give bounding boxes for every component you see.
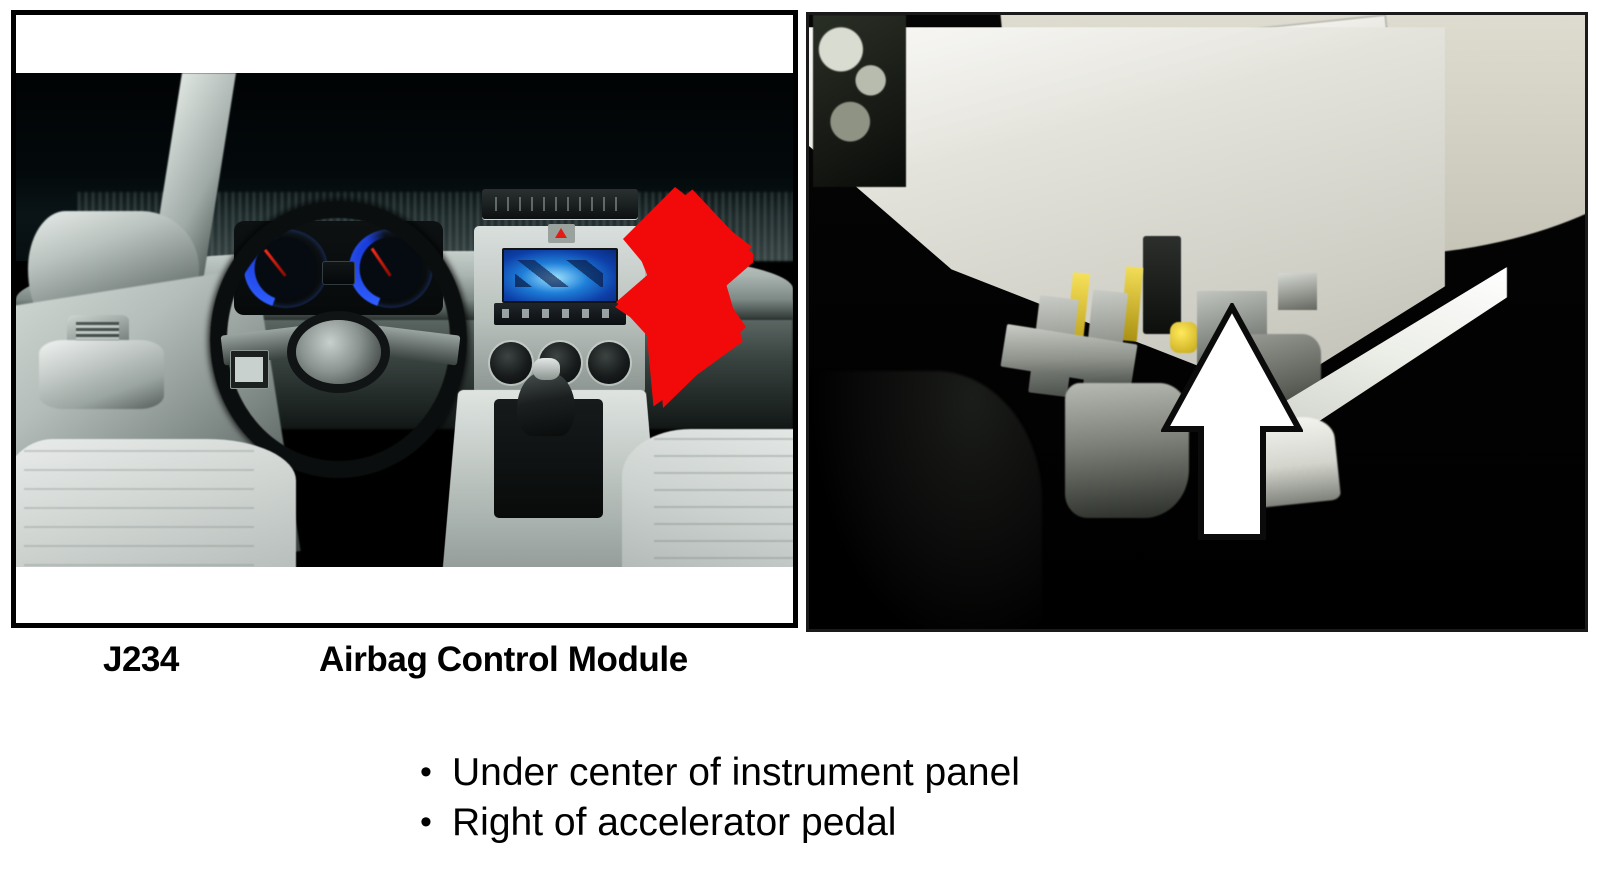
white-location-arrow <box>1161 303 1303 541</box>
location-notes-list: Under center of instrument panel Right o… <box>420 748 1020 848</box>
figure-interior-overview <box>11 10 798 628</box>
climate-knob <box>490 342 532 384</box>
document-page: J234 Airbag Control Module Under center … <box>0 0 1598 870</box>
figure-footwell-closeup <box>806 12 1588 632</box>
shift-lever <box>517 372 575 436</box>
door-grab-handle <box>39 340 163 409</box>
door-sill-shadow <box>809 371 1042 632</box>
steering-wheel-hub-emblem <box>296 320 381 384</box>
list-item: Right of accelerator pedal <box>420 798 1020 848</box>
component-name: Airbag Control Module <box>319 640 688 680</box>
window-background <box>813 15 906 187</box>
hazard-light-button <box>548 224 574 244</box>
passenger-seat <box>622 429 793 567</box>
steering-wheel-buttons <box>230 350 269 390</box>
figure-left-inner-frame <box>16 15 793 623</box>
figure-caption: J234 Airbag Control Module <box>103 640 688 680</box>
radio-faceplate <box>494 303 626 325</box>
navigation-screen <box>502 248 619 302</box>
red-location-arrow <box>613 187 753 409</box>
component-code: J234 <box>103 640 319 680</box>
list-item: Under center of instrument panel <box>420 748 1020 798</box>
driver-seat <box>16 439 296 567</box>
